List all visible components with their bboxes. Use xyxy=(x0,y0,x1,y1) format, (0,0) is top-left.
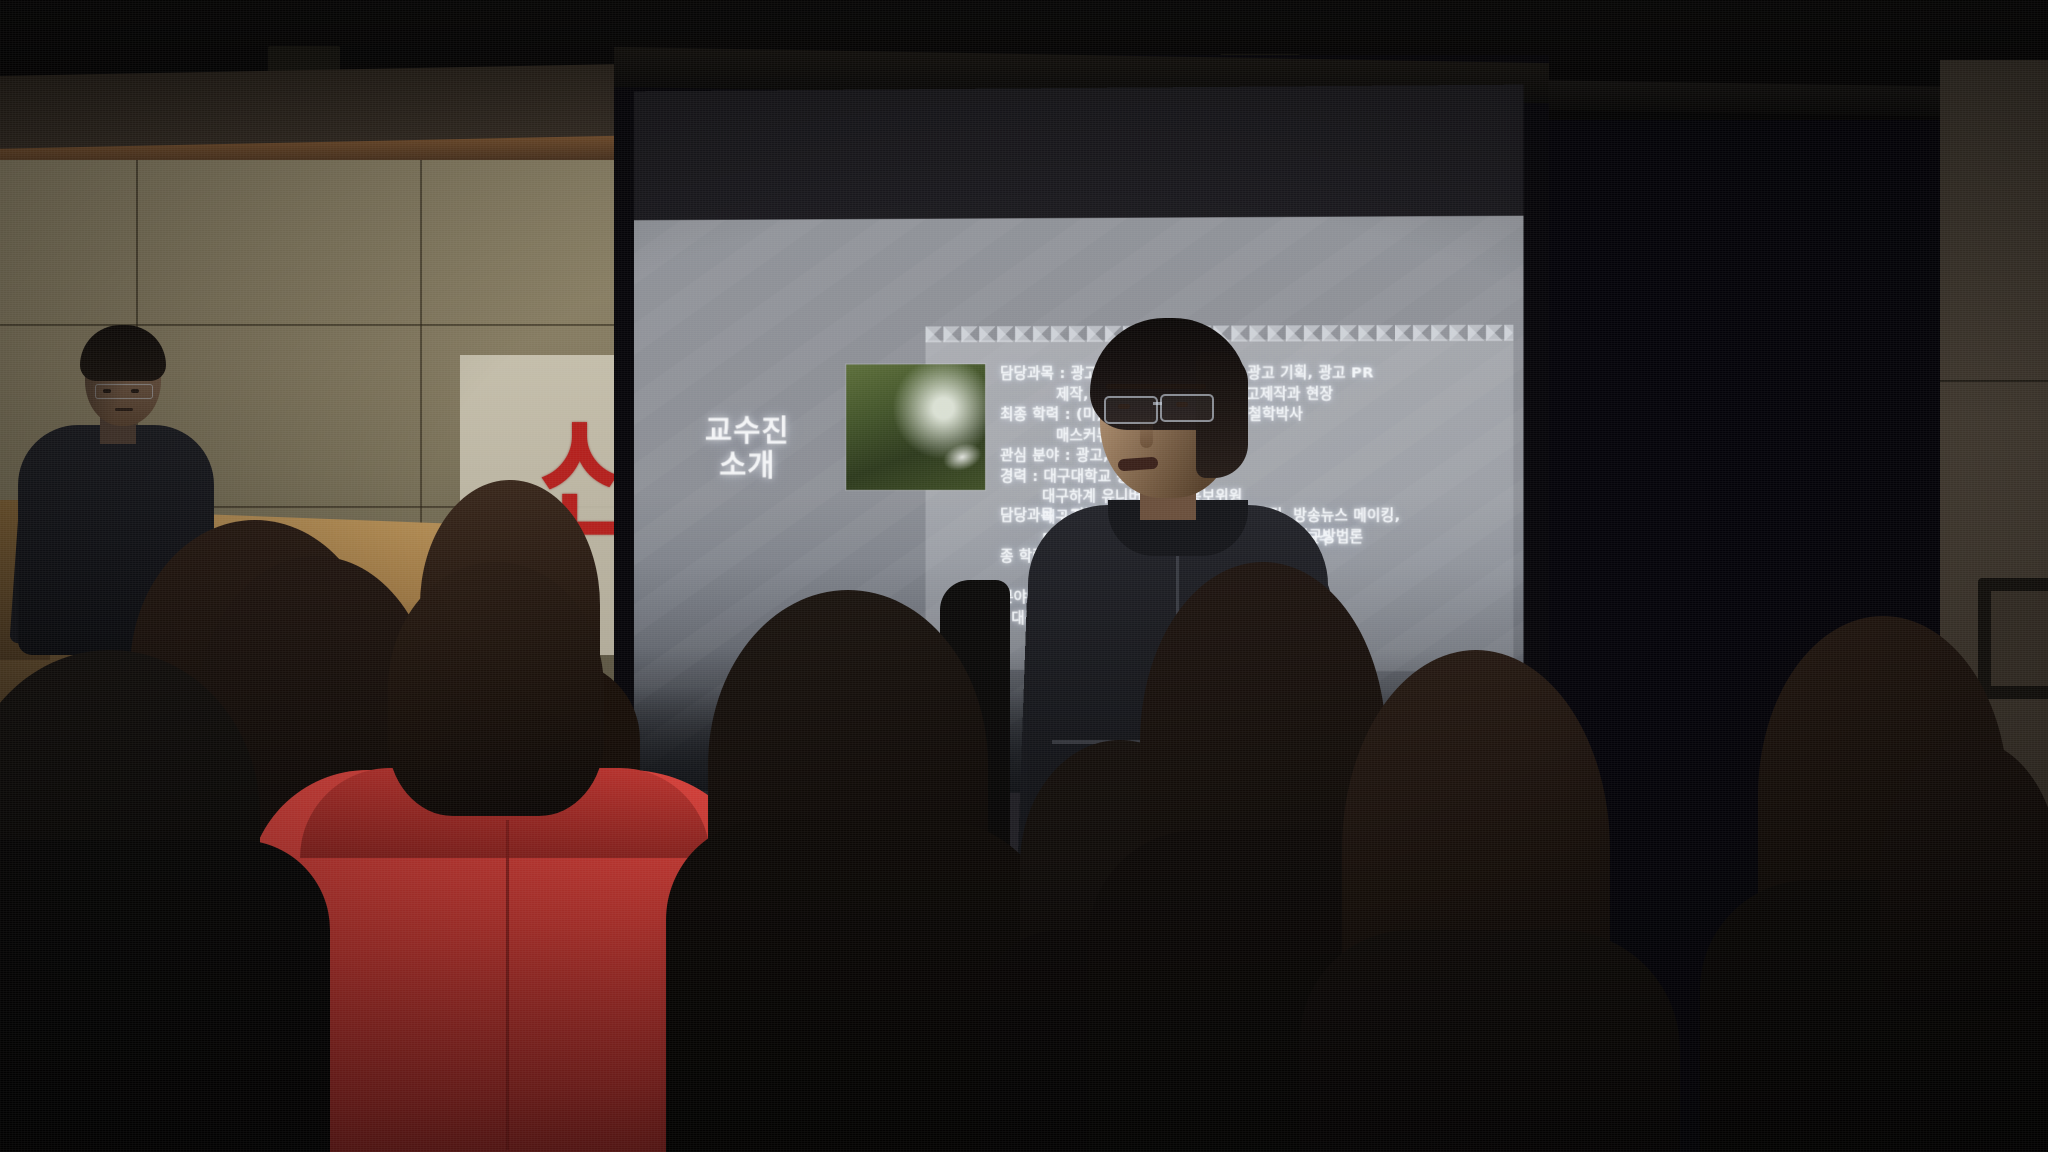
speaker-eye-left xyxy=(1118,404,1130,409)
audience-head-edge-right xyxy=(1880,740,2048,1010)
slide-title: 교수진 소개 xyxy=(664,413,832,483)
audience-body-right xyxy=(1300,930,1680,1152)
speaker-eyebrows xyxy=(1106,384,1206,389)
wall-right-seam xyxy=(1940,380,2048,382)
slide-title-line-1: 교수진 xyxy=(705,413,790,448)
lecture-hall-scene: 신 교수진 소개 xyxy=(0,0,2048,1152)
audience-head-red-jacket xyxy=(388,562,604,816)
slide-title-line-2: 소개 xyxy=(719,449,775,484)
audience-red-jacket-seam xyxy=(506,820,509,1150)
slide-professor-photo xyxy=(846,364,985,490)
eyeglasses-bridge xyxy=(1153,402,1162,405)
speaker-eye-right xyxy=(1176,402,1188,407)
wall-mounted-frame xyxy=(1978,578,2048,699)
speaker-nose xyxy=(1140,418,1153,448)
audience-body-far-left xyxy=(0,840,330,1152)
eyeglasses-lens-right-icon xyxy=(1160,394,1214,422)
